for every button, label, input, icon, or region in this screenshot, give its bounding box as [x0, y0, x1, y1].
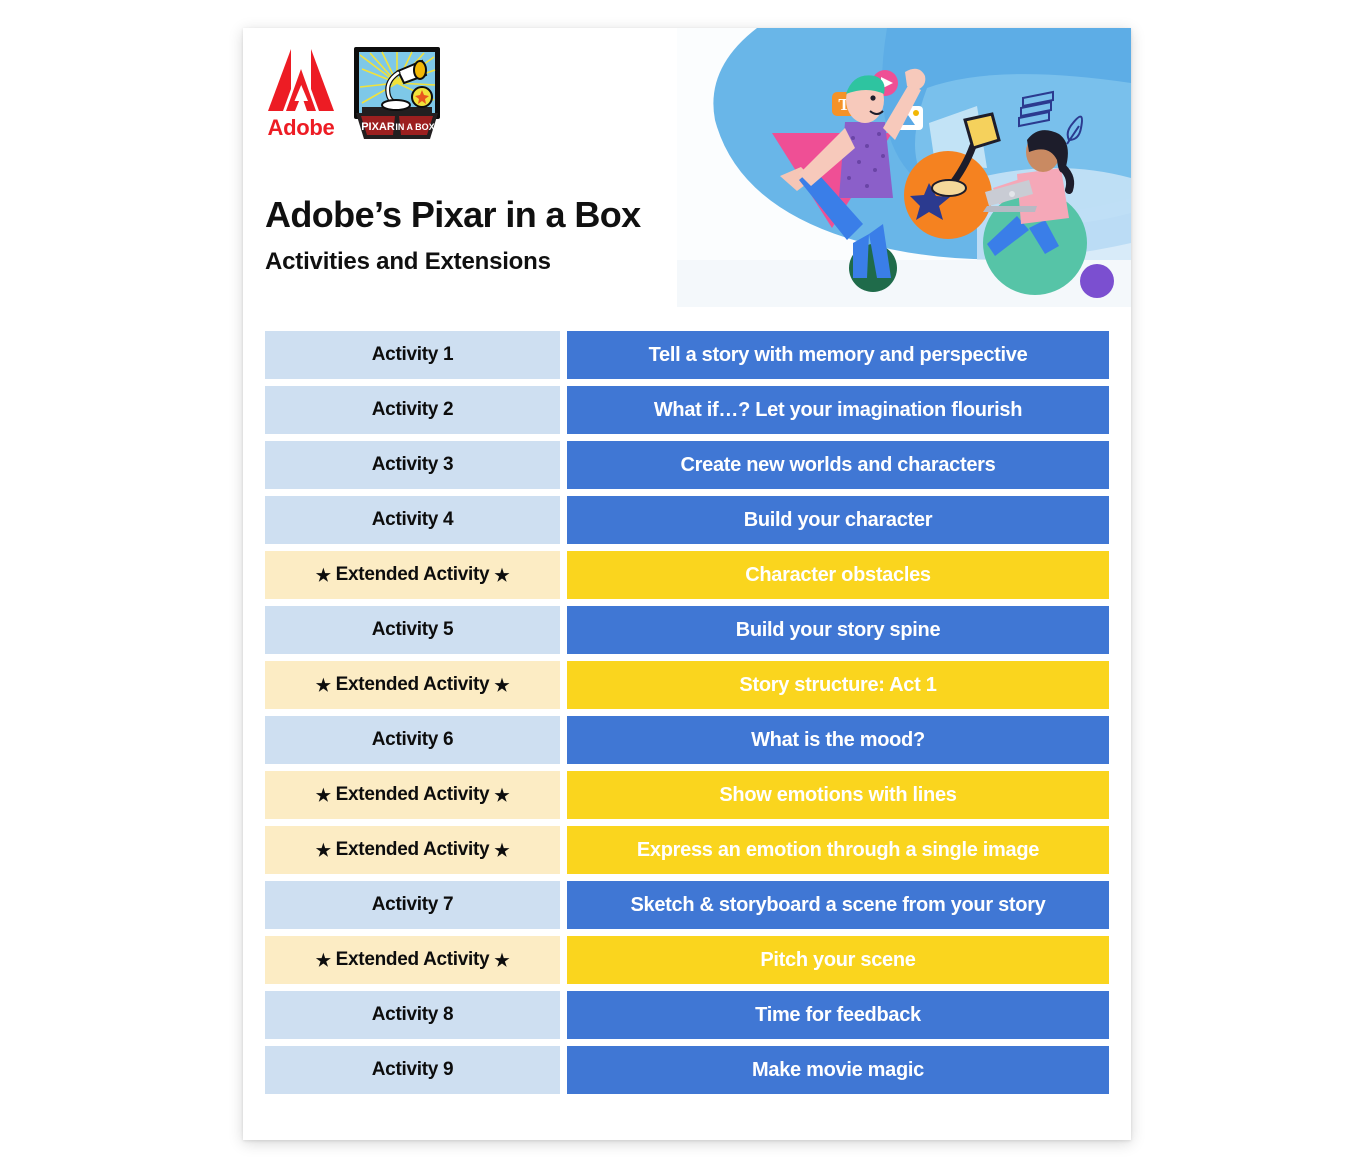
activity-description-text: What is the mood?	[751, 729, 925, 752]
table-row[interactable]: ★Extended Activity★Pitch your scene	[265, 936, 1109, 984]
activity-description-cell: Express an emotion through a single imag…	[567, 826, 1109, 874]
activity-description-cell: Show emotions with lines	[567, 771, 1109, 819]
activity-description-text: Create new worlds and characters	[681, 454, 996, 477]
pixar-in-a-box-logo: PIXAR IN A BOX	[352, 45, 442, 141]
table-row[interactable]: Activity 3Create new worlds and characte…	[265, 441, 1109, 489]
star-icon: ★	[316, 677, 331, 694]
adobe-logo: Adobe	[264, 45, 338, 141]
star-icon: ★	[316, 952, 331, 969]
activity-description-text: Sketch & storyboard a scene from your st…	[630, 894, 1045, 917]
activity-description-cell: Build your story spine	[567, 606, 1109, 654]
table-row[interactable]: ★Extended Activity★Express an emotion th…	[265, 826, 1109, 874]
table-row[interactable]: Activity 7Sketch & storyboard a scene fr…	[265, 881, 1109, 929]
activity-description-cell: What is the mood?	[567, 716, 1109, 764]
star-icon: ★	[494, 952, 509, 969]
page-subtitle: Activities and Extensions	[265, 248, 705, 276]
activity-description-cell: Create new worlds and characters	[567, 441, 1109, 489]
page-title: Adobe’s Pixar in a Box	[265, 196, 705, 234]
activity-label-cell: ★Extended Activity★	[265, 826, 560, 874]
adobe-wordmark: Adobe	[264, 115, 338, 141]
star-icon: ★	[494, 677, 509, 694]
table-row[interactable]: Activity 6What is the mood?	[265, 716, 1109, 764]
activity-label-text: Extended Activity	[336, 839, 490, 861]
activity-label-text: Extended Activity	[336, 564, 490, 586]
activity-label-text: Activity 4	[372, 509, 453, 531]
activity-label-text: Extended Activity	[336, 784, 490, 806]
activity-label-cell: Activity 6	[265, 716, 560, 764]
activity-label-text: Activity 3	[372, 454, 453, 476]
activities-table: Activity 1Tell a story with memory and p…	[265, 331, 1109, 1094]
activity-description-text: Build your story spine	[736, 619, 941, 642]
pixar-logo-text-top: PIXAR	[361, 121, 395, 133]
activity-description-cell: Story structure: Act 1	[567, 661, 1109, 709]
adobe-a-mark-icon	[264, 45, 338, 117]
star-icon: ★	[494, 787, 509, 804]
activity-description-cell: Time for feedback	[567, 991, 1109, 1039]
activity-description-text: Express an emotion through a single imag…	[637, 839, 1039, 862]
activity-label-text: Activity 7	[372, 894, 453, 916]
star-icon: ★	[494, 567, 509, 584]
page-root: Adobe	[0, 0, 1372, 1171]
activity-label-cell: Activity 4	[265, 496, 560, 544]
activity-label-text: Extended Activity	[336, 949, 490, 971]
activity-description-cell: Pitch your scene	[567, 936, 1109, 984]
star-icon: ★	[316, 787, 331, 804]
activity-description-text: Time for feedback	[755, 1004, 921, 1027]
activity-description-text: What if…? Let your imagination flourish	[654, 399, 1022, 422]
activity-label-text: Activity 1	[372, 344, 453, 366]
activity-label-cell: ★Extended Activity★	[265, 551, 560, 599]
table-row[interactable]: ★Extended Activity★Story structure: Act …	[265, 661, 1109, 709]
activity-label-text: Activity 9	[372, 1059, 453, 1081]
activity-description-text: Show emotions with lines	[719, 784, 956, 807]
activity-description-cell: Sketch & storyboard a scene from your st…	[567, 881, 1109, 929]
table-row[interactable]: Activity 1Tell a story with memory and p…	[265, 331, 1109, 379]
table-row[interactable]: ★Extended Activity★Character obstacles	[265, 551, 1109, 599]
activity-label-cell: Activity 9	[265, 1046, 560, 1094]
document-card: Adobe	[243, 28, 1131, 1140]
activity-description-cell: Character obstacles	[567, 551, 1109, 599]
activity-description-text: Tell a story with memory and perspective	[649, 344, 1028, 367]
activity-label-cell: Activity 2	[265, 386, 560, 434]
hero-illustration: T	[677, 28, 1131, 307]
activity-description-text: Make movie magic	[752, 1059, 924, 1082]
star-icon: ★	[316, 567, 331, 584]
activity-label-text: Activity 2	[372, 399, 453, 421]
activity-label-cell: Activity 7	[265, 881, 560, 929]
table-row[interactable]: ★Extended Activity★Show emotions with li…	[265, 771, 1109, 819]
activity-description-cell: Make movie magic	[567, 1046, 1109, 1094]
activity-description-text: Build your character	[744, 509, 933, 532]
activity-label-cell: ★Extended Activity★	[265, 771, 560, 819]
activity-description-text: Story structure: Act 1	[739, 674, 936, 697]
activity-label-cell: Activity 1	[265, 331, 560, 379]
activity-label-cell: Activity 5	[265, 606, 560, 654]
pixar-logo-text-bottom: IN A BOX	[395, 122, 434, 132]
activity-label-cell: ★Extended Activity★	[265, 661, 560, 709]
logo-group: Adobe	[264, 45, 442, 141]
activity-description-cell: Build your character	[567, 496, 1109, 544]
table-row[interactable]: Activity 8Time for feedback	[265, 991, 1109, 1039]
activity-label-text: Activity 5	[372, 619, 453, 641]
activity-description-text: Character obstacles	[745, 564, 931, 587]
activity-description-cell: Tell a story with memory and perspective	[567, 331, 1109, 379]
table-row[interactable]: Activity 2What if…? Let your imagination…	[265, 386, 1109, 434]
table-row[interactable]: Activity 5Build your story spine	[265, 606, 1109, 654]
table-row[interactable]: Activity 9Make movie magic	[265, 1046, 1109, 1094]
activity-label-text: Activity 8	[372, 1004, 453, 1026]
activity-description-text: Pitch your scene	[760, 949, 915, 972]
table-row[interactable]: Activity 4Build your character	[265, 496, 1109, 544]
activity-label-text: Activity 6	[372, 729, 453, 751]
purple-sphere	[1080, 264, 1114, 298]
activity-label-cell: ★Extended Activity★	[265, 936, 560, 984]
title-block: Adobe’s Pixar in a Box Activities and Ex…	[265, 196, 705, 276]
activity-description-cell: What if…? Let your imagination flourish	[567, 386, 1109, 434]
activity-label-cell: Activity 8	[265, 991, 560, 1039]
document-header: Adobe	[243, 28, 1131, 308]
activity-label-text: Extended Activity	[336, 674, 490, 696]
star-icon: ★	[316, 842, 331, 859]
activity-label-cell: Activity 3	[265, 441, 560, 489]
star-icon: ★	[494, 842, 509, 859]
